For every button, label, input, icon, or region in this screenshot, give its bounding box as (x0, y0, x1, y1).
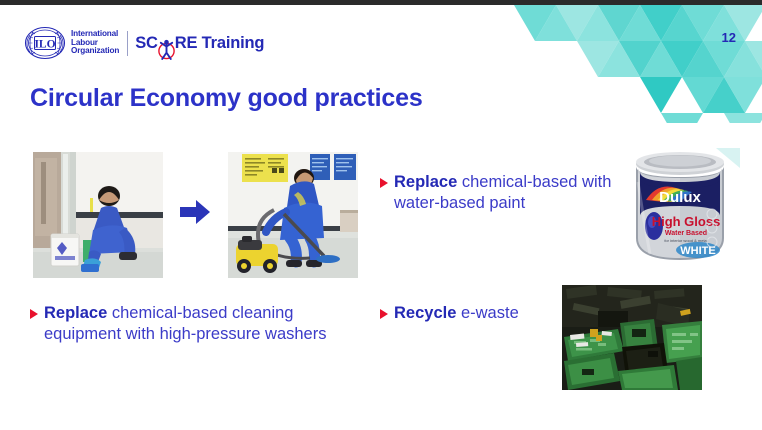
triangle-bullet-icon (380, 309, 388, 319)
photo-ewaste-circuit-boards (562, 285, 702, 390)
ilo-org-line-3: Organization (71, 47, 119, 55)
bullet-recycle-ewaste-rest: e-waste (456, 304, 518, 322)
ilo-emblem-text: ILO (34, 39, 55, 51)
page-number: 12 (722, 30, 736, 45)
score-prefix: SC (135, 34, 158, 52)
bullet-recycle-ewaste-text: Recycle e-waste (394, 303, 519, 324)
dulux-brand-text: Dulux (659, 189, 701, 206)
ilo-score-logo: ILO International Labour Organization SC… (24, 26, 264, 60)
bullet-replace-paint: Replace chemical-based with water-based … (380, 172, 630, 214)
top-bar (0, 0, 762, 5)
ilo-org-name: International Labour Organization (71, 30, 119, 55)
page-title: Circular Economy good practices (30, 84, 423, 113)
teal-triangle-decoration (472, 5, 762, 123)
score-suffix: RE Training (175, 34, 264, 52)
bullet-replace-cleaning-equipment-text: Replace chemical-based cleaning equipmen… (44, 303, 375, 345)
triangle-bullet-icon (380, 178, 388, 188)
slide-canvas: 12 ILO International (0, 0, 762, 430)
ilo-emblem-icon: ILO (24, 26, 66, 60)
photo-pressure-washer-cleaning (228, 152, 358, 278)
bullet-replace-cleaning-equipment-bold: Replace (44, 304, 107, 322)
bullet-replace-cleaning-equipment: Replace chemical-based cleaning equipmen… (30, 303, 375, 345)
score-training-wordmark: SC RE Training (135, 34, 264, 53)
photo-manual-floor-cleaning (33, 152, 163, 278)
bullet-replace-paint-bold: Replace (394, 173, 457, 191)
right-arrow-icon (180, 198, 210, 226)
triangle-pattern-svg (472, 5, 762, 123)
triangle-bullet-icon (30, 309, 38, 319)
bullet-replace-paint-text: Replace chemical-based with water-based … (394, 172, 630, 214)
bullet-recycle-ewaste-bold: Recycle (394, 304, 456, 322)
bullet-recycle-ewaste: Recycle e-waste (380, 303, 580, 324)
logo-divider (127, 31, 128, 56)
photo-dulux-paint-can: Dulux High Gloss Water Based for interio… (620, 142, 740, 270)
dulux-product-line-1: High Gloss (652, 214, 721, 229)
dulux-product-line-2: Water Based (665, 230, 707, 237)
